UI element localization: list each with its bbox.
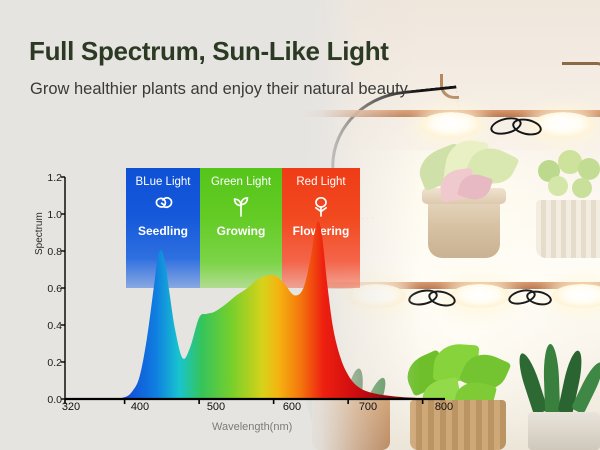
y-tick-label: 0.6	[36, 283, 62, 295]
plot-area	[61, 177, 445, 404]
x-tick-label: 800	[424, 401, 464, 413]
y-tick-label: 0.4	[36, 320, 62, 332]
spectrum-area	[65, 221, 445, 399]
promo-banner: Full Spectrum, Sun-Like Light Grow healt…	[0, 0, 600, 450]
y-axis-label: Spectrum	[34, 212, 45, 255]
x-tick-label: 400	[120, 401, 160, 413]
x-axis-label: Wavelength(nm)	[212, 421, 292, 433]
x-tick-label: 320	[51, 401, 91, 413]
x-tick-label: 500	[196, 401, 236, 413]
x-tick-label: 700	[348, 401, 388, 413]
spectrum-chart: 1.2 1.0 0.8 0.6 0.4 0.2 0.0 320 400 500 …	[0, 0, 600, 450]
chart-canvas	[0, 0, 600, 450]
y-tick-label: 0.2	[36, 357, 62, 369]
y-tick-label: 1.2	[36, 172, 62, 184]
x-tick-label: 600	[272, 401, 312, 413]
